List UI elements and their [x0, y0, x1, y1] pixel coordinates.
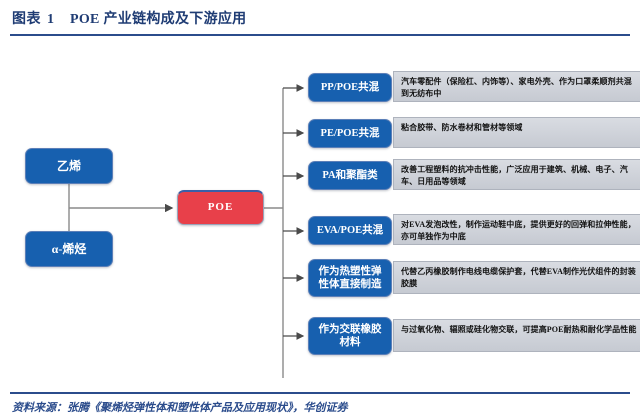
source-note: 资料来源：张腾《聚烯烃弹性体和塑性体产品及应用现状》，华创证券 — [12, 399, 348, 415]
desc-crosslinked-rubber: 与过氧化物、辐照或硅化物交联，可提高POE耐热和耐化学品性能 — [393, 319, 640, 352]
node-poe[interactable]: POE — [177, 190, 264, 225]
title-divider — [10, 34, 630, 36]
figure-label: 图表 — [12, 8, 41, 28]
node-pp-poe-blend[interactable]: PP/POE共混 — [308, 73, 392, 102]
figure-number: 1 — [47, 12, 54, 28]
desc-pp-poe-blend: 汽车零配件（保险杠、内饰等）、家电外壳、作为口罩柔顺剂共混到无纺布中 — [393, 71, 640, 102]
desc-pa-polyester: 改善工程塑料的抗冲击性能，广泛应用于建筑、机械、电子、汽车、日用品等领域 — [393, 159, 640, 190]
node-thermoplastic-elastomer[interactable]: 作为热塑性弹性体直接制造 — [308, 259, 392, 297]
desc-thermoplastic-elastomer: 代替乙丙橡胶制作电线电缆保护套，代替EVA制作光伏组件的封装胶膜 — [393, 261, 640, 294]
node-pa-polyester[interactable]: PA和聚酯类 — [308, 161, 392, 190]
page-title: 图表 1 POE 产业链构成及下游应用 — [12, 8, 246, 28]
desc-pe-poe-blend: 粘合胶带、防水卷材和管材等领域 — [393, 117, 640, 148]
desc-eva-poe-blend: 对EVA发泡改性，制作运动鞋中底，提供更好的回弹和拉伸性能，亦可单独作为中底 — [393, 214, 640, 245]
node-crosslinked-rubber[interactable]: 作为交联橡胶材料 — [308, 317, 392, 355]
value-chain-diagram: 乙烯 α-烯烃 POE PP/POE共混 PE/POE共混 PA和聚酯类 EVA… — [0, 42, 640, 390]
node-ethylene[interactable]: 乙烯 — [25, 148, 113, 184]
footer-divider — [10, 392, 630, 394]
node-pe-poe-blend[interactable]: PE/POE共混 — [308, 119, 392, 148]
node-eva-poe-blend[interactable]: EVA/POE共混 — [308, 216, 392, 245]
figure-header: 图表 1 POE 产业链构成及下游应用 — [0, 0, 640, 42]
figure-title-text: POE 产业链构成及下游应用 — [70, 8, 246, 28]
node-alpha-olefin[interactable]: α-烯烃 — [25, 231, 113, 267]
